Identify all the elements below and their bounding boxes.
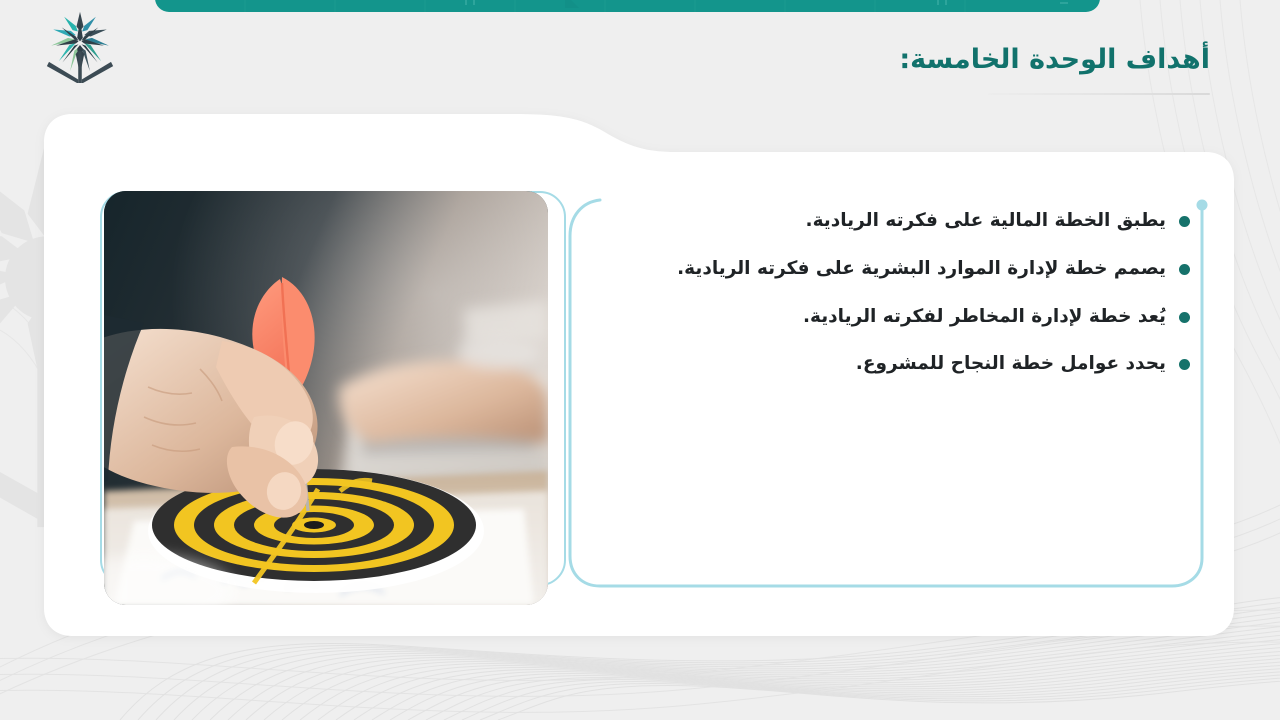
list-item: يصمم خطة لإدارة الموارد البشرية على فكرت… bbox=[650, 256, 1190, 283]
list-item-label: يحدد عوامل خطة النجاح للمشروع. bbox=[650, 351, 1166, 378]
objectives-list: يطبق الخطة المالية على فكرته الريادية. ي… bbox=[650, 208, 1190, 399]
page-title-block: أهداف الوحدة الخامسة: bbox=[650, 44, 1210, 95]
bullet-dot-icon bbox=[1179, 312, 1190, 323]
list-item: يطبق الخطة المالية على فكرته الريادية. bbox=[650, 208, 1190, 235]
title-divider bbox=[988, 93, 1210, 95]
list-item: يحدد عوامل خطة النجاح للمشروع. bbox=[650, 351, 1190, 378]
list-item-label: يُعد خطة لإدارة المخاطر لفكرته الريادية. bbox=[650, 304, 1166, 331]
list-item: يُعد خطة لإدارة المخاطر لفكرته الريادية. bbox=[650, 304, 1190, 331]
bullet-dot-icon bbox=[1179, 359, 1190, 370]
list-item-label: يصمم خطة لإدارة الموارد البشرية على فكرت… bbox=[650, 256, 1166, 283]
bullet-dot-icon bbox=[1179, 264, 1190, 275]
list-item-label: يطبق الخطة المالية على فكرته الريادية. bbox=[650, 208, 1166, 235]
tvtc-logo-icon bbox=[44, 9, 116, 83]
bullet-dot-icon bbox=[1179, 216, 1190, 227]
page-title: أهداف الوحدة الخامسة: bbox=[650, 44, 1210, 76]
top-decorative-bar bbox=[155, 0, 1100, 12]
dart-on-target-photo bbox=[104, 191, 548, 605]
slide-root: أهداف الوحدة الخامسة: bbox=[0, 0, 1280, 720]
top-bar-texture bbox=[155, 0, 1100, 12]
